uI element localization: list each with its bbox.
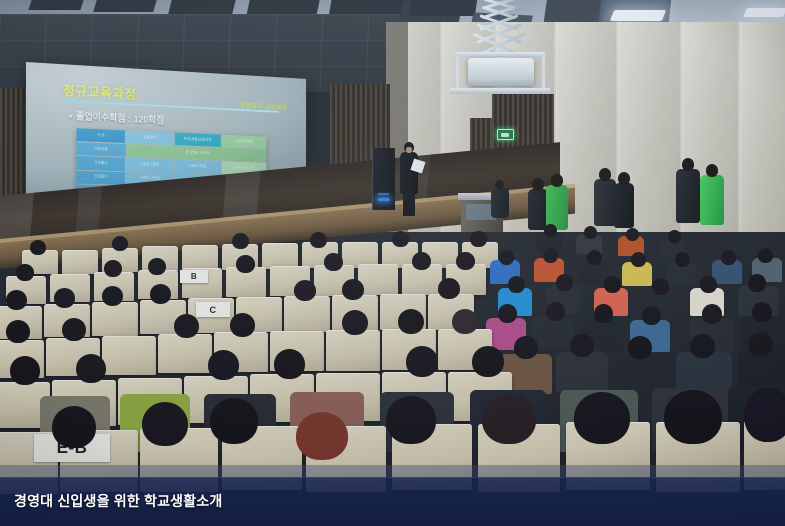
caption-bar: 경영대 신입생을 위한 학교생활소개	[0, 477, 785, 526]
standing-person-green-jacket	[700, 164, 724, 226]
person-body	[528, 189, 548, 230]
person-body	[491, 188, 509, 218]
attendee-head	[758, 248, 773, 263]
attendee-head	[721, 250, 736, 265]
attendee-head	[508, 276, 525, 293]
attendee-head	[294, 280, 316, 301]
attendee-head	[6, 290, 27, 310]
seat	[358, 264, 398, 295]
person-head	[618, 172, 630, 185]
attendee-head	[230, 313, 255, 337]
attendee-head	[546, 302, 565, 321]
projector-mount-post	[542, 56, 545, 89]
exit-sign-icon	[497, 129, 514, 140]
projector-scissor-lift	[470, 0, 528, 54]
attendee-head	[594, 304, 613, 323]
attendee-head	[210, 398, 258, 444]
attendee-head	[102, 286, 123, 306]
attendee-head	[386, 396, 436, 444]
attendee-head	[208, 350, 239, 380]
person-head	[599, 168, 611, 181]
attendee-head	[543, 248, 558, 263]
photo-canvas: 정규교육과정 경영대학 교육과정 졸업이수학점 : 120학점 구 분 공통과목…	[0, 0, 785, 526]
person-body	[614, 183, 634, 228]
person-head	[706, 164, 718, 177]
ceiling-acoustic-panel	[168, 0, 235, 14]
speaker-led-indicator	[378, 193, 389, 195]
projector	[468, 58, 534, 86]
attendee-head	[6, 320, 30, 343]
attendee-head	[631, 252, 646, 267]
attendee-head	[30, 240, 46, 255]
attendee-head	[142, 402, 188, 446]
attendee-head	[700, 276, 717, 293]
seat	[182, 245, 218, 270]
attendee-head	[664, 390, 722, 444]
attendee-head	[324, 253, 343, 271]
attendee-head	[232, 233, 249, 249]
seat-sign: C	[196, 302, 230, 317]
presenter-on-stage	[398, 142, 420, 216]
seat-sign: B	[180, 270, 208, 283]
standing-person	[594, 168, 616, 226]
seat	[284, 296, 330, 332]
attendee-head	[702, 304, 722, 324]
attendee-head	[570, 334, 594, 357]
attendee-head	[236, 255, 255, 273]
attendee-head	[752, 302, 772, 322]
audience-seating: B C	[0, 236, 785, 496]
attendee-head	[470, 231, 487, 247]
standing-person	[614, 172, 634, 228]
attendee-head	[174, 314, 199, 338]
attendee-head	[626, 228, 639, 241]
stage-speaker-cabinet	[372, 148, 395, 210]
person-head	[682, 158, 694, 171]
attendee-head	[10, 356, 40, 385]
attendee-head	[406, 346, 438, 377]
presenter-face	[406, 147, 412, 153]
attendee-head	[544, 224, 557, 237]
attendee-head	[62, 318, 86, 341]
standing-person	[528, 178, 548, 230]
attendee-head	[398, 309, 424, 334]
attendee-head	[675, 252, 690, 267]
person-at-podium	[491, 180, 509, 218]
attendee-head	[438, 278, 460, 299]
projector-mount-post	[456, 56, 459, 89]
attendee-head	[456, 252, 475, 270]
projector-mount-plate-top	[455, 52, 545, 57]
ceiling-acoustic-panel	[28, 0, 83, 10]
wall-angled-panel	[740, 22, 785, 232]
attendee-head	[652, 278, 669, 295]
attendee-head	[514, 336, 538, 359]
attendee-head	[76, 354, 106, 383]
person-body	[594, 179, 616, 226]
caption-bar-upper-tint	[0, 465, 785, 477]
seat	[326, 330, 380, 371]
attendee-head	[628, 336, 652, 359]
attendee-head	[392, 231, 409, 247]
attendee-head	[748, 332, 773, 356]
seat	[62, 250, 98, 274]
attendee-head	[452, 309, 478, 334]
attendee-head	[690, 334, 715, 358]
caption-text: 경영대 신입생을 위한 학교생활소개	[14, 491, 222, 511]
attendee-head	[668, 230, 681, 243]
attendee-head	[342, 279, 364, 300]
seat	[92, 302, 138, 336]
person-head	[532, 178, 544, 191]
person-body	[676, 169, 700, 223]
attendee-head	[148, 258, 166, 275]
presenter-legs	[403, 192, 415, 216]
attendee-torso	[556, 352, 608, 392]
attendee-head	[584, 226, 597, 239]
standing-person-green-jacket	[546, 174, 568, 230]
attendee-head	[574, 392, 630, 444]
attendee-head-auburn	[296, 412, 348, 460]
attendee-head	[54, 288, 75, 308]
attendee-head	[604, 276, 621, 293]
person-body	[700, 175, 724, 225]
speaker-led-indicator	[378, 198, 389, 201]
person-head	[551, 174, 563, 187]
projector-mount-plate-bottom	[450, 88, 550, 94]
attendee-head	[744, 388, 785, 442]
attendee-head	[642, 306, 661, 325]
attendee-head	[482, 394, 536, 444]
attendee-head	[587, 250, 602, 265]
person-head	[495, 180, 504, 189]
attendee-head	[748, 274, 766, 292]
seat	[102, 336, 156, 375]
attendee-head	[556, 274, 573, 291]
standing-person	[676, 158, 700, 224]
attendee-head	[274, 349, 305, 379]
attendee-head	[16, 264, 34, 281]
attendee-head	[150, 284, 171, 304]
scissor-arms	[470, 0, 528, 54]
attendee-head	[472, 346, 504, 377]
attendee-head	[112, 236, 128, 251]
ceiling-light-panel	[610, 10, 666, 21]
attendee-head	[412, 252, 431, 270]
ceiling-acoustic-panel	[93, 0, 156, 12]
attendee-head	[498, 304, 517, 323]
attendee-head	[104, 260, 122, 277]
ceiling-light-panel	[743, 8, 785, 17]
attendee-head	[52, 406, 96, 448]
attendee-head	[499, 250, 514, 265]
attendee-head	[342, 310, 368, 335]
seat	[158, 334, 212, 373]
attendee-head	[310, 232, 327, 248]
